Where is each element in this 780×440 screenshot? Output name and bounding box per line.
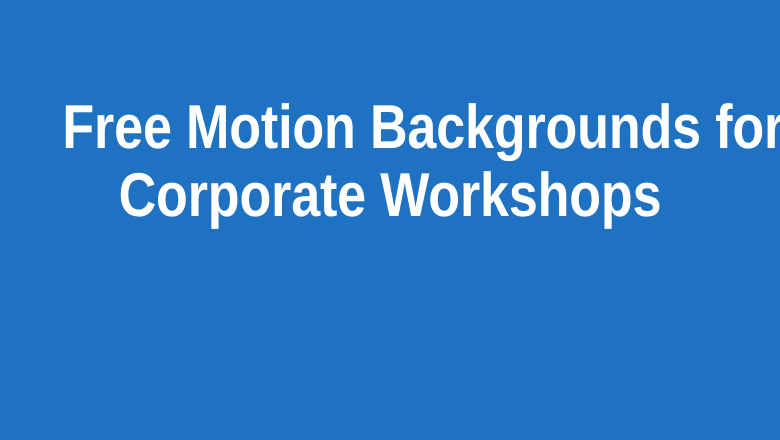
title-line-2: Corporate Workshops bbox=[62, 162, 717, 230]
slide-canvas: Free Motion Backgrounds for Corporate Wo… bbox=[0, 0, 780, 440]
title-block: Free Motion Backgrounds for Corporate Wo… bbox=[0, 94, 780, 230]
title-line-1: Free Motion Backgrounds for bbox=[62, 94, 717, 162]
